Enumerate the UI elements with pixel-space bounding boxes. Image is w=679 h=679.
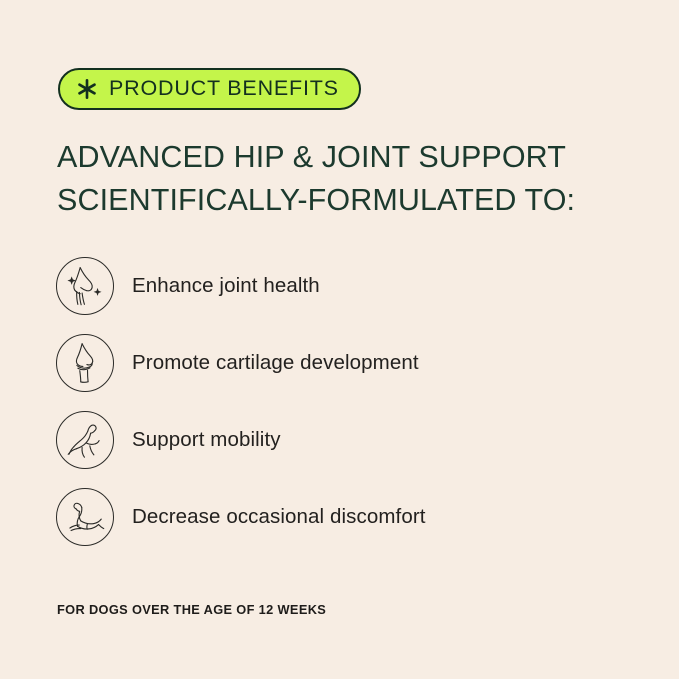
product-benefits-badge: PRODUCT BENEFITS <box>58 68 361 110</box>
leaping-dog-icon <box>56 411 114 469</box>
badge-label: PRODUCT BENEFITS <box>109 78 339 100</box>
list-item: Promote cartilage development <box>56 334 426 392</box>
list-item: Enhance joint health <box>56 257 426 315</box>
list-item: Support mobility <box>56 411 426 469</box>
age-requirement-note: FOR DOGS OVER THE AGE OF 12 WEEKS <box>57 602 326 617</box>
headline-line-2: SCIENTIFICALLY-FORMULATED TO: <box>57 179 575 222</box>
page-title: ADVANCED HIP & JOINT SUPPORT SCIENTIFICA… <box>57 136 575 222</box>
benefit-label: Support mobility <box>132 428 281 453</box>
joint-sparkle-icon <box>56 257 114 315</box>
benefit-label: Enhance joint health <box>132 274 320 299</box>
asterisk-icon <box>76 78 98 100</box>
benefits-list: Enhance joint health Prom <box>56 257 426 565</box>
product-benefits-panel: PRODUCT BENEFITS ADVANCED HIP & JOINT SU… <box>0 0 679 679</box>
resting-dog-icon <box>56 488 114 546</box>
list-item: Decrease occasional discomfort <box>56 488 426 546</box>
headline-line-1: ADVANCED HIP & JOINT SUPPORT <box>57 136 575 179</box>
benefit-label: Decrease occasional discomfort <box>132 505 426 530</box>
joint-cartilage-icon <box>56 334 114 392</box>
benefit-label: Promote cartilage development <box>132 351 419 376</box>
